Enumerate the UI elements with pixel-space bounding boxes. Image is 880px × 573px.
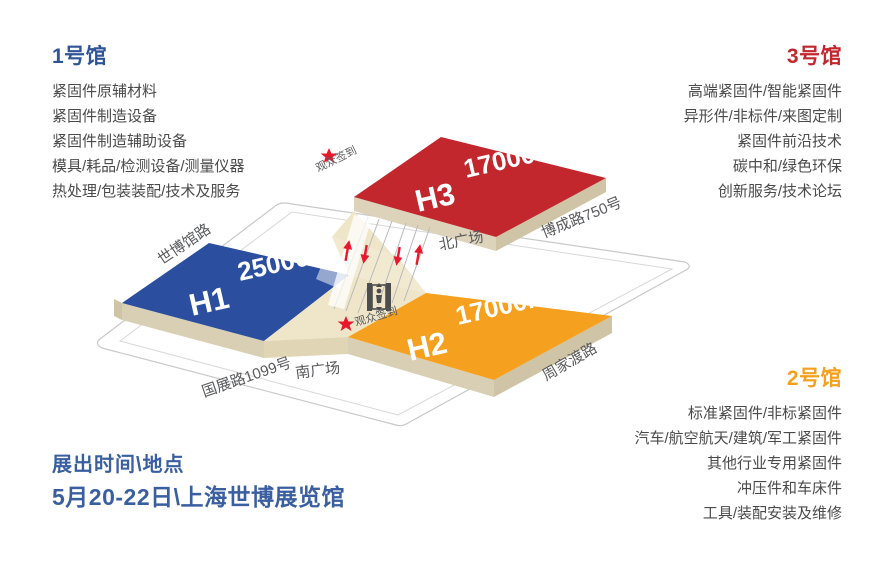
hall-1-category-item: 模具/耗品/检测设备/测量仪器 <box>52 154 245 179</box>
hall-1-category-item: 紧固件制造辅助设备 <box>52 129 245 154</box>
poster-canvas: 1号馆 紧固件原辅材料 紧固件制造设备 紧固件制造辅助设备 模具/耗品/检测设备… <box>0 0 880 573</box>
h1-side-left <box>114 299 122 320</box>
hall-1-info-block: 1号馆 紧固件原辅材料 紧固件制造设备 紧固件制造辅助设备 模具/耗品/检测设备… <box>52 40 245 204</box>
hall-1-title: 1号馆 <box>52 40 245 70</box>
hall-2-category-item: 工具/装配安装及维修 <box>634 501 842 526</box>
hall-2-category-item: 其他行业专用紧固件 <box>634 451 842 476</box>
hall-3-category-item: 高端紧固件/智能紧固件 <box>684 79 842 104</box>
hall-3-category-item: 紧固件前沿技术 <box>684 129 842 154</box>
hall-3-category-item: 碳中和/绿色环保 <box>684 154 842 179</box>
checkin-marker-h3[interactable]: 观众签到 <box>313 143 359 175</box>
event-time-venue-block: 展出时间\地点 5月20-22日\上海世博展览馆 <box>52 450 345 514</box>
event-info-value: 5月20-22日\上海世博展览馆 <box>52 480 345 514</box>
hall-1-category-item: 紧固件原辅材料 <box>52 79 245 104</box>
hall-1-category-item: 紧固件制造设备 <box>52 104 245 129</box>
hall-3-info-block: 3号馆 高端紧固件/智能紧固件 异形件/非标件/来图定制 紧固件前沿技术 碳中和… <box>684 40 842 204</box>
hall-3-category-list: 高端紧固件/智能紧固件 异形件/非标件/来图定制 紧固件前沿技术 碳中和/绿色环… <box>684 79 842 204</box>
venue-isometric-map: 25000M2 H1 17000M2 H3 <box>96 185 696 430</box>
hall-3-category-item: 异形件/非标件/来图定制 <box>684 104 842 129</box>
event-info-label: 展出时间\地点 <box>52 450 345 480</box>
hall-3-category-item: 创新服务/技术论坛 <box>684 179 842 204</box>
hall-2-category-item: 冲压件和车床件 <box>634 476 842 501</box>
checkin-label-h3: 观众签到 <box>313 143 359 175</box>
hall-3-title: 3号馆 <box>684 40 842 70</box>
